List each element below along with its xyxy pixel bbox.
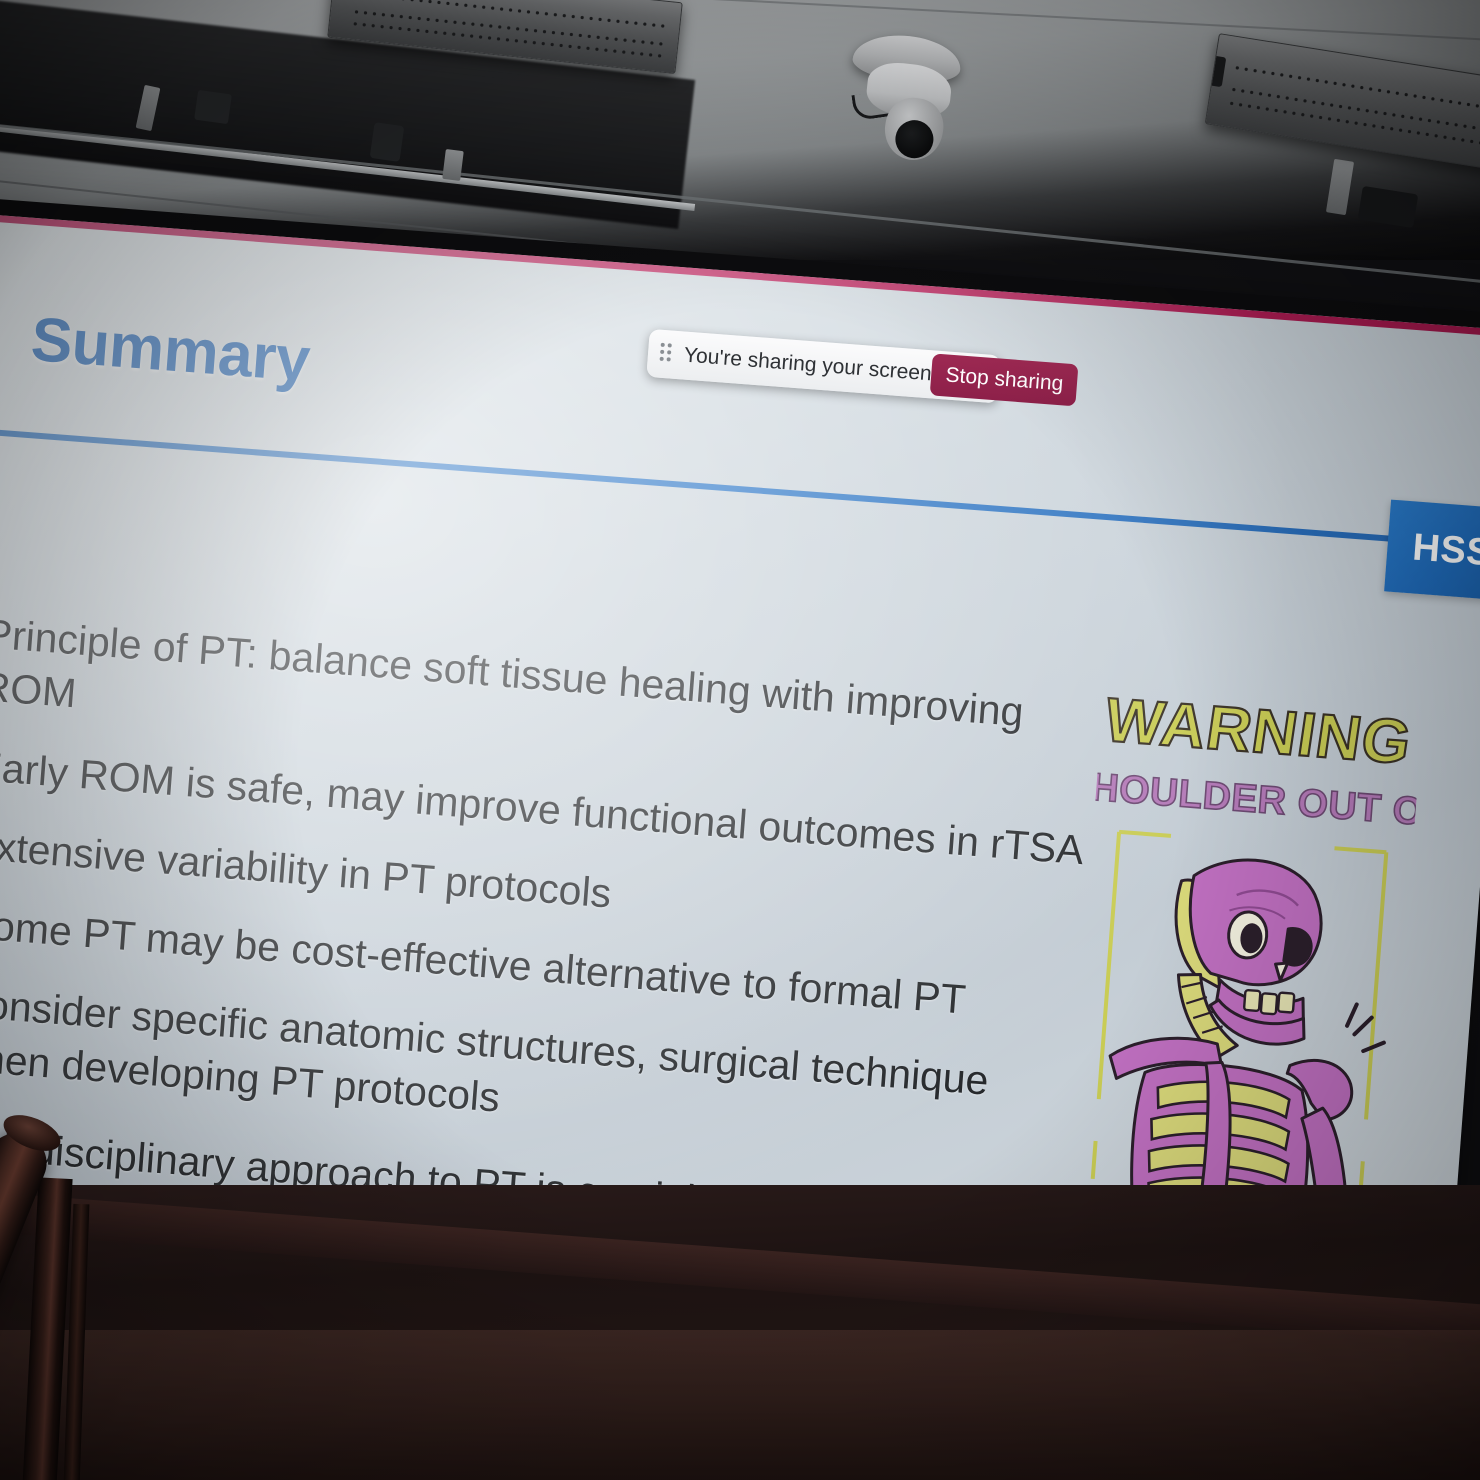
hss-logo-text: HSS [1411, 526, 1480, 575]
conference-room-photo: Summary HSS • Principle of PT: balance s… [0, 0, 1480, 1480]
floor [0, 1330, 1480, 1480]
ceiling-light-fixture-icon [1205, 33, 1480, 171]
ceiling-camera-icon [845, 36, 975, 164]
drag-handle-icon[interactable] [659, 343, 675, 366]
ceiling-seam [560, 0, 1480, 43]
hss-logo: HSS [1384, 500, 1480, 602]
fixture-mount-bracket [194, 90, 232, 124]
wooden-handrail-icon [0, 1118, 180, 1480]
title-divider [0, 425, 1480, 550]
page-title: Summary [29, 304, 313, 396]
share-status-text: You're sharing your screen [683, 344, 932, 387]
fixture-mount-bracket [1358, 186, 1419, 228]
fixture-mount-arm [1326, 159, 1354, 215]
fixture-mount-bracket [370, 122, 405, 162]
svg-text:WARNING: WARNING [1100, 686, 1416, 778]
fixture-mount-arm [442, 149, 464, 181]
